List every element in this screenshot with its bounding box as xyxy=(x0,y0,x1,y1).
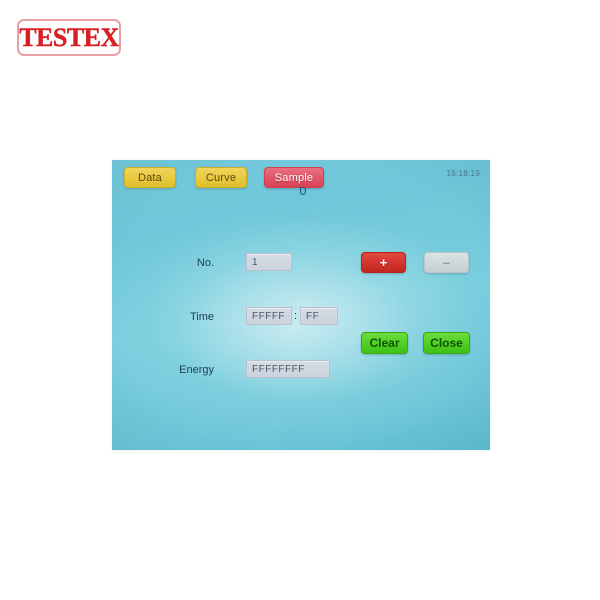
no-field-label: No. xyxy=(152,257,214,269)
increment-button-label: + xyxy=(380,255,388,270)
clear-button[interactable]: Clear xyxy=(361,332,408,354)
increment-button[interactable]: + xyxy=(361,252,406,273)
touch-cursor-icon xyxy=(299,187,306,195)
decrement-button[interactable]: – xyxy=(424,252,469,273)
testex-logo-text: TESTEX xyxy=(19,25,119,51)
close-button[interactable]: Close xyxy=(423,332,470,354)
clear-button-label: Clear xyxy=(369,336,399,350)
decrement-button-label: – xyxy=(443,255,450,270)
tab-curve[interactable]: Curve xyxy=(195,167,247,188)
time-minutes-input[interactable]: FF xyxy=(300,307,338,325)
tab-data-label: Data xyxy=(138,172,162,184)
energy-input[interactable]: FFFFFFFF xyxy=(246,360,330,378)
testex-logo: TESTEX xyxy=(17,19,121,56)
touch-cursor-glyph xyxy=(300,187,306,195)
no-input[interactable]: 1 xyxy=(246,253,292,271)
hmi-touchscreen-panel: Data Curve Sample 16:18:19 No. 1 Time FF… xyxy=(112,160,490,450)
tab-curve-label: Curve xyxy=(206,172,236,184)
clock-display: 16:18:19 xyxy=(446,169,480,178)
energy-field-label: Energy xyxy=(144,364,214,376)
tab-sample-label: Sample xyxy=(275,172,314,184)
tab-data[interactable]: Data xyxy=(124,167,176,188)
time-hours-input[interactable]: FFFFF xyxy=(246,307,292,325)
time-separator: : xyxy=(294,310,297,322)
close-button-label: Close xyxy=(430,336,463,350)
tab-sample[interactable]: Sample xyxy=(264,167,324,188)
time-field-label: Time xyxy=(152,311,214,323)
hmi-screen-content: Data Curve Sample 16:18:19 No. 1 Time FF… xyxy=(112,160,490,450)
